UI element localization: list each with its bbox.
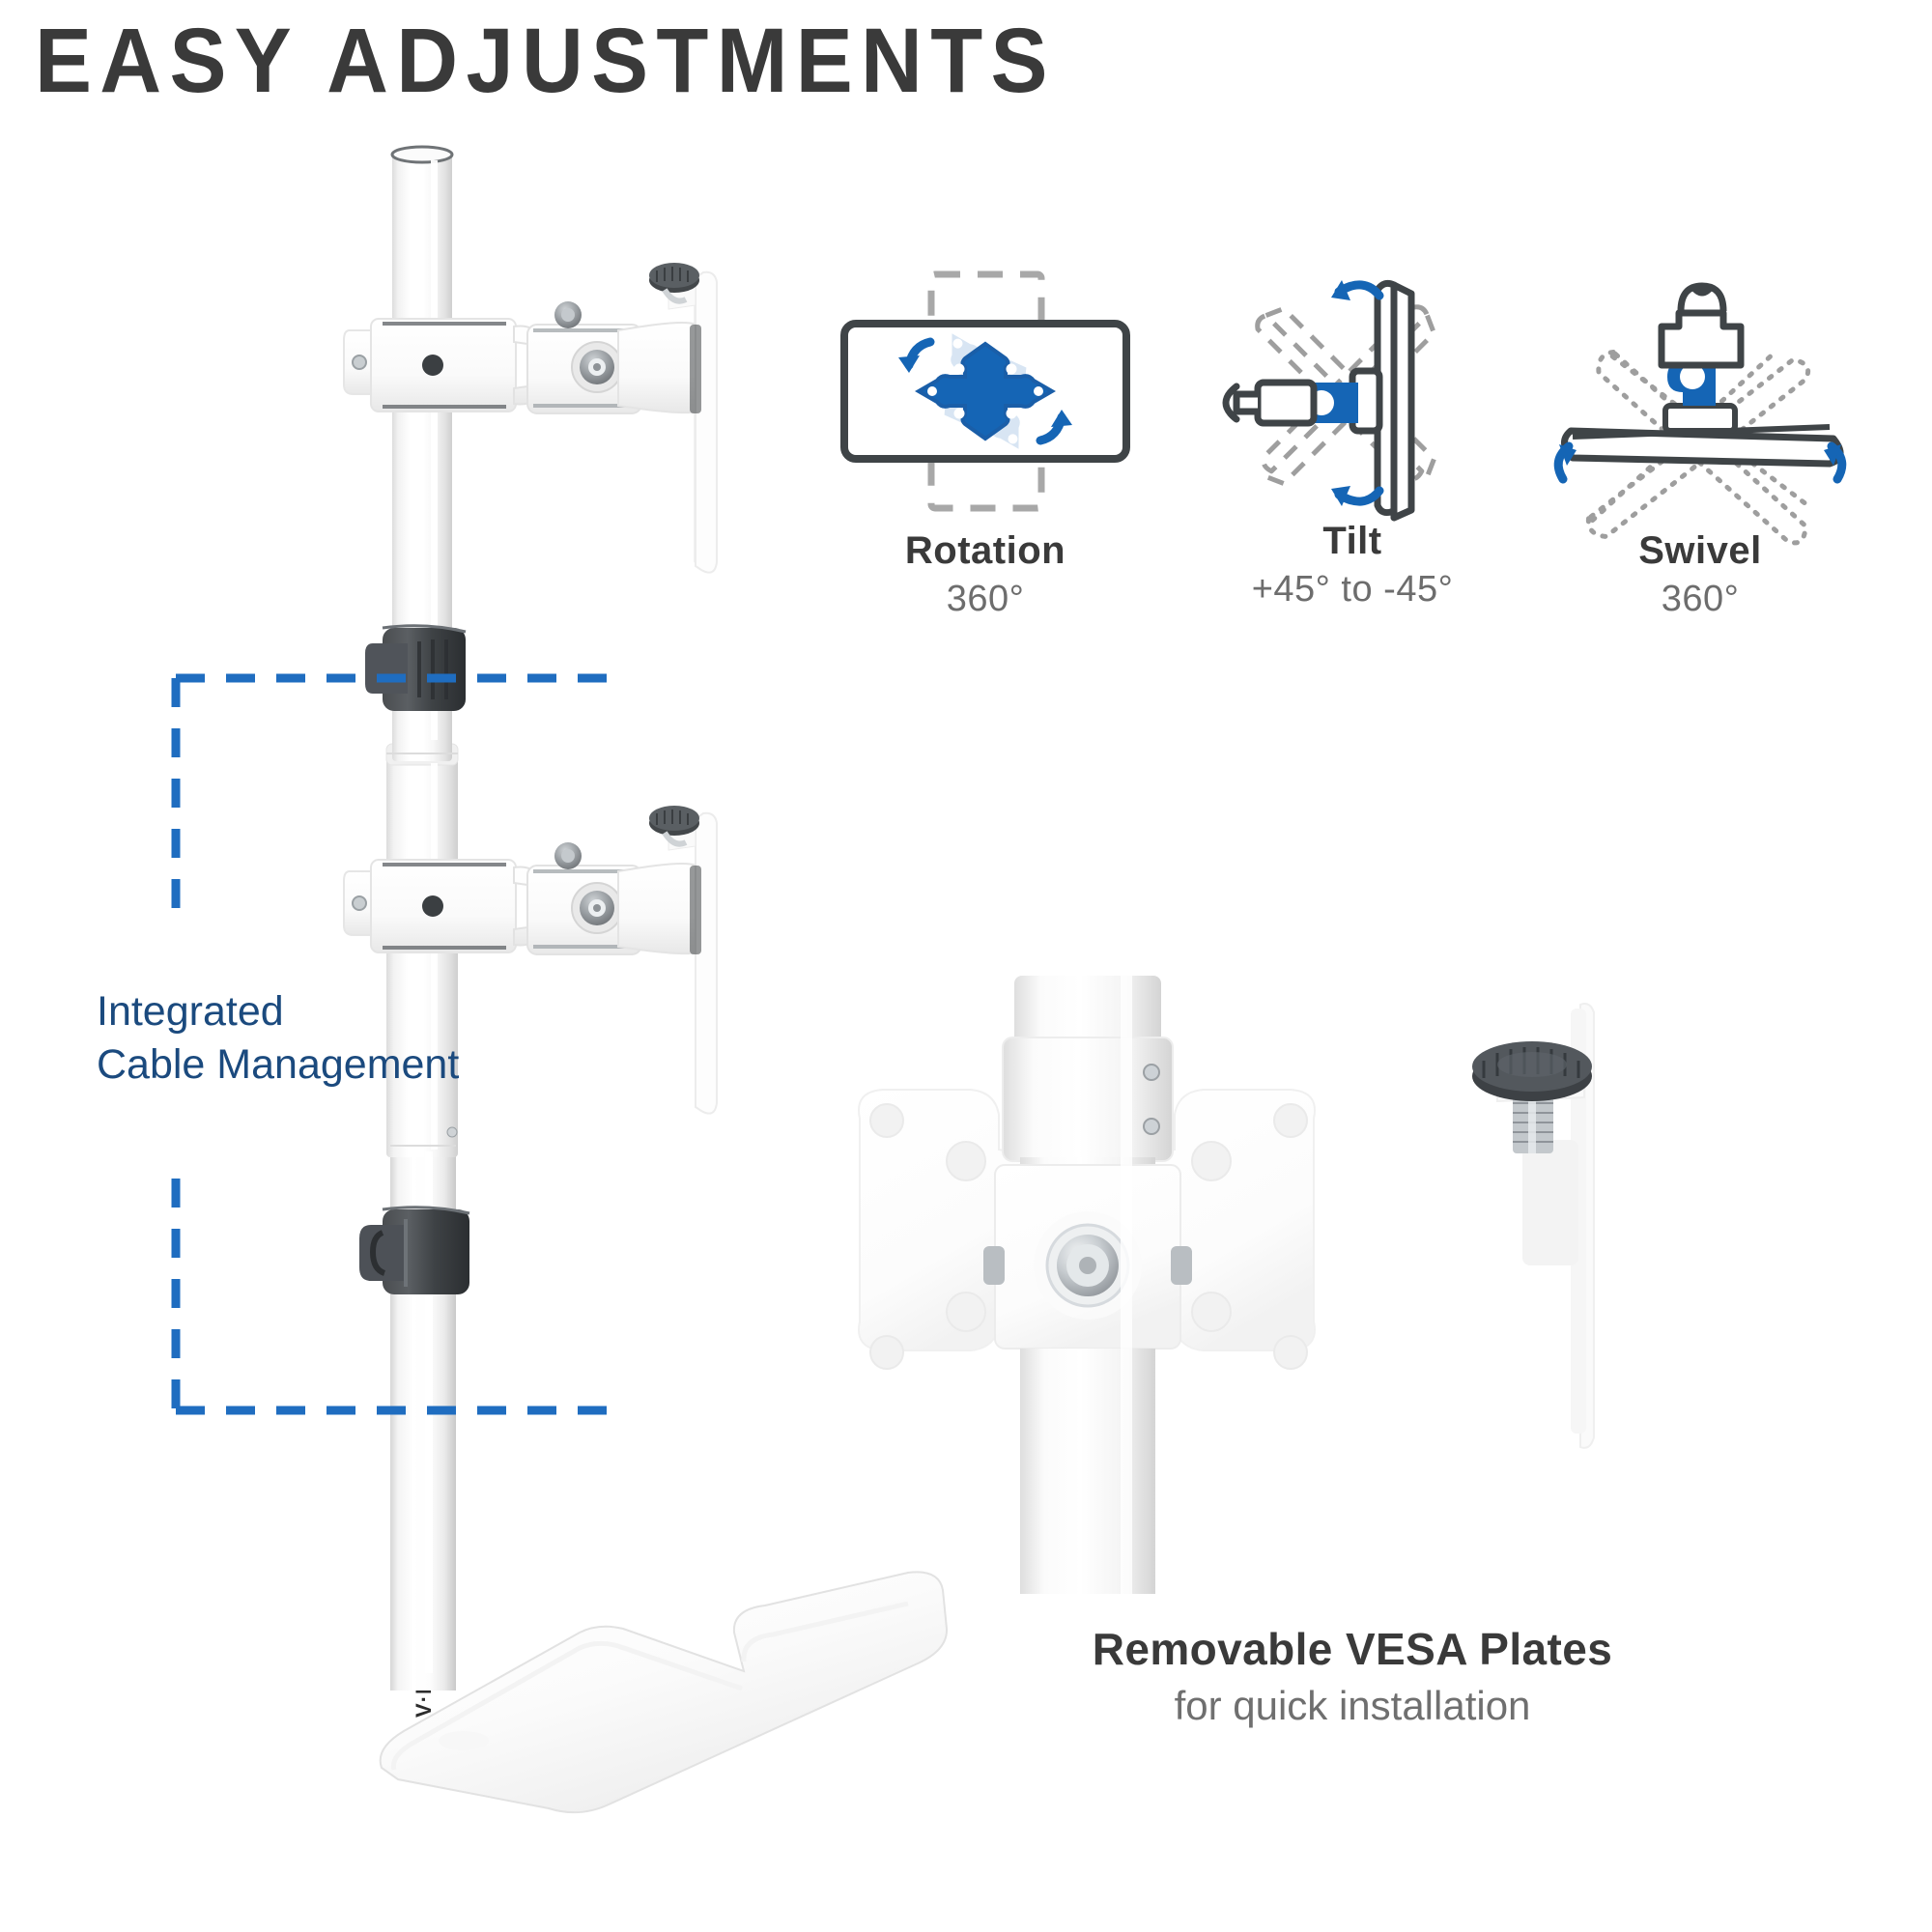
vesa-caption-title: Removable VESA Plates xyxy=(1053,1623,1652,1675)
vesa-caption-subtitle: for quick installation xyxy=(1053,1683,1652,1729)
feature-tilt: Tilt +45° to -45° xyxy=(1198,251,1507,611)
feature-rotation-art xyxy=(831,261,1140,522)
feature-tilt-value: +45° to -45° xyxy=(1198,569,1507,611)
v-shaped-base: V·I·V·O® xyxy=(381,1572,947,1812)
monitor-tilt-icon xyxy=(1198,251,1507,522)
infographic-canvas: EASY ADJUSTMENTS xyxy=(0,0,1932,1932)
features-row: Rotation 360° xyxy=(831,280,1913,724)
cable-management-label: Integrated Cable Management xyxy=(97,985,459,1092)
feature-swivel: Swivel 360° xyxy=(1546,261,1855,620)
feature-swivel-label: Swivel xyxy=(1546,529,1855,573)
feature-tilt-art xyxy=(1198,251,1507,512)
feature-tilt-label: Tilt xyxy=(1198,520,1507,563)
monitor-swivel-icon xyxy=(1546,261,1855,522)
vesa-caption: Removable VESA Plates for quick installa… xyxy=(1053,1623,1652,1729)
feature-rotation: Rotation 360° xyxy=(831,261,1140,620)
feature-swivel-art xyxy=(1546,261,1855,522)
vesa-pole-bracket xyxy=(983,976,1192,1594)
feature-rotation-value: 360° xyxy=(831,579,1140,620)
swivel-left-arrow-icon xyxy=(1558,444,1577,479)
page-title: EASY ADJUSTMENTS xyxy=(35,14,1056,110)
feature-rotation-label: Rotation xyxy=(831,529,1140,573)
cable-management-label-line1: Integrated xyxy=(97,985,459,1038)
tilt-down-arrow-icon xyxy=(1331,486,1379,506)
vesa-plate-side-with-thumbscrew xyxy=(1472,1004,1594,1448)
cable-management-label-line2: Cable Management xyxy=(97,1038,459,1092)
vesa-plates-illustration xyxy=(831,976,1758,1594)
feature-swivel-value: 360° xyxy=(1546,579,1855,620)
tilt-up-arrow-icon xyxy=(1331,280,1379,300)
monitor-rotation-icon xyxy=(831,261,1140,522)
